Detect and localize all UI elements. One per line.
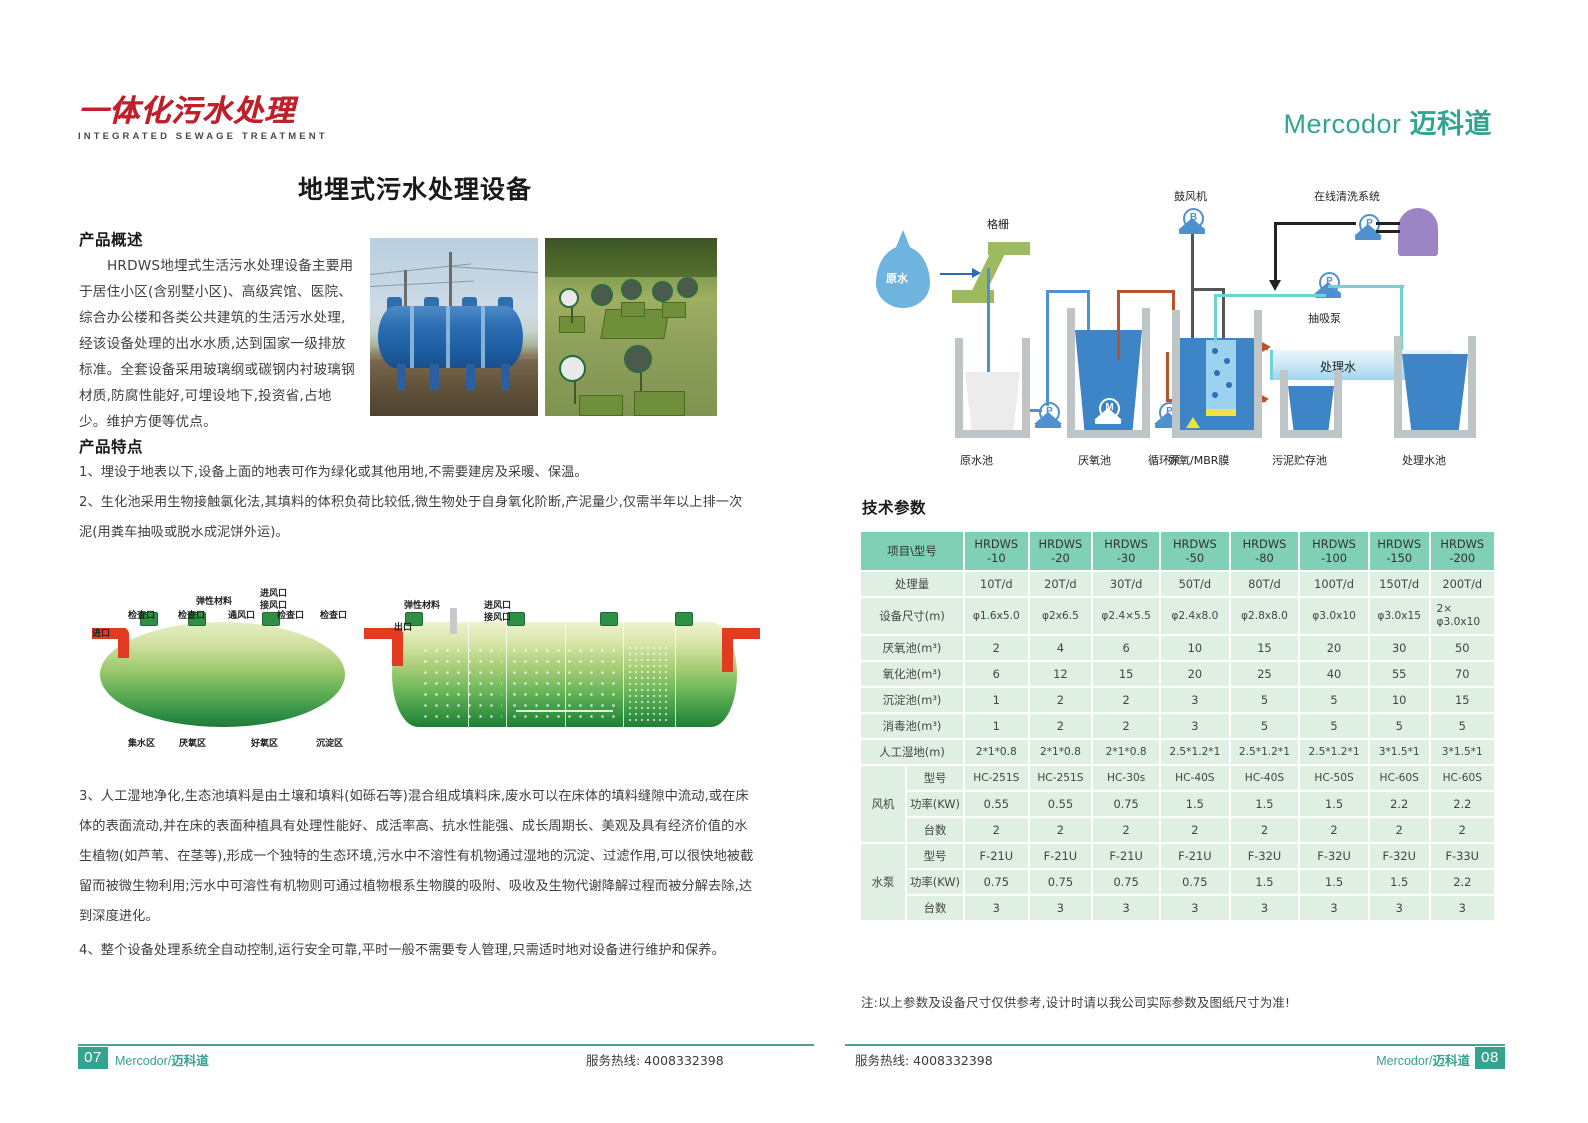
brand-english: Mercodor [1283, 109, 1401, 139]
blower-air-branch [1191, 288, 1225, 291]
spec-cell: 15 [1093, 662, 1159, 686]
spec-cell: 2.2 [1431, 870, 1494, 894]
spec-cell: HC-251S [1030, 766, 1092, 790]
tank-exterior-illustration [100, 622, 345, 727]
footer-brand-en-left: Mercodor [115, 1054, 168, 1068]
spec-cell: 100T/d [1300, 572, 1368, 596]
spec-table: 项目\型号 HRDWS -10 HRDWS -20 HRDWS -30 HRDW… [859, 530, 1496, 922]
spec-cell: 0.75 [1030, 870, 1092, 894]
logo-chinese-text: 一体化污水处理 [78, 96, 338, 128]
footer-hotline-right: 服务热线: 4008332398 [855, 1050, 993, 1069]
spec-cell: 2.5*1.2*1 [1231, 740, 1299, 764]
label-zone-anaerobic: 厌氧区 [179, 736, 206, 749]
spec-cell: 10T/d [965, 572, 1028, 596]
spec-cell: 50T/d [1161, 572, 1229, 596]
spec-cell: HC-40S [1231, 766, 1299, 790]
brand-chinese: 迈科道 [1410, 109, 1493, 140]
spec-cell: φ3.0x10 [1300, 598, 1368, 634]
spec-cell: HC-30s [1093, 766, 1159, 790]
spec-cell: F-21U [965, 844, 1028, 868]
label-air-out-top: 接风口 [484, 610, 511, 623]
spec-cell: 20 [1300, 636, 1368, 660]
label-inspection-1: 检查口 [128, 608, 155, 621]
label-anaerobic-tank: 厌氧池 [1078, 452, 1111, 468]
tank-neck-icon [600, 612, 618, 626]
spec-subrow-label: 台数 [907, 896, 963, 920]
tank-section-inlet-bend [392, 628, 403, 666]
overview-paragraph: HRDWS地埋式生活污水处理设备主要用于居住小区(含别墅小区)、高级宾馆、医院、… [79, 253, 357, 435]
tank-section-illustration [392, 622, 737, 727]
vent-stack-icon [450, 608, 457, 634]
spec-cell: HC-251S [965, 766, 1028, 790]
spec-cell: 3 [965, 896, 1028, 920]
footer-brand-left: Mercodor/迈科道 [115, 1050, 209, 1069]
recirc-pipe-4 [1166, 352, 1169, 402]
spec-cell: F-32U [1300, 844, 1368, 868]
spec-cell: 3 [1093, 896, 1159, 920]
spec-row-label-4: 沉淀池(m³) [861, 688, 963, 712]
spec-cell: 3*1.5*1 [1370, 740, 1429, 764]
label-online-clean: 在线清洗系统 [1314, 188, 1380, 204]
tank-neck-icon [675, 612, 693, 626]
spec-cell: 70 [1431, 662, 1494, 686]
overview-heading: 产品概述 [79, 228, 143, 250]
spec-cell: 2 [1030, 714, 1092, 738]
blower-icon: B [1178, 208, 1206, 234]
spec-cell: φ3.0x15 [1370, 598, 1429, 634]
grid-icon-upper [988, 242, 1030, 255]
logo-english-text: INTEGRATED SEWAGE TREATMENT [78, 131, 338, 142]
spec-cell: 2 [1093, 818, 1159, 842]
spec-cell: 3 [1370, 896, 1429, 920]
clean-pipe-2 [1376, 230, 1400, 233]
footer-brand-cn-left: 迈科道 [171, 1053, 209, 1068]
footer-brand-right: Mercodor/迈科道 [1376, 1050, 1470, 1069]
table-row: 处理量 10T/d 20T/d 30T/d 50T/d 80T/d 100T/d… [861, 572, 1494, 596]
spec-cell: F-21U [1161, 844, 1229, 868]
spec-row-label-3: 氧化池(m³) [861, 662, 963, 686]
clean-pipe-1 [1376, 222, 1400, 225]
spec-cell: 50 [1431, 636, 1494, 660]
features-list-top: 1、埋设于地表以下,设备上面的地表可作为绿化或其他用地,不需要建房及采暖、保温。… [79, 458, 751, 548]
table-row: 设备尺寸(m) φ1.6x5.0 φ2x6.5 φ2.4×5.5 φ2.4x8.… [861, 598, 1494, 634]
aerobic-mbr-tank [1172, 310, 1262, 438]
features-heading: 产品特点 [79, 435, 143, 457]
spec-cell: 2 [1231, 818, 1299, 842]
label-raw-water-tank: 原水池 [960, 452, 993, 468]
spec-cell: HC-50S [1300, 766, 1368, 790]
spec-cell: 2 [1093, 714, 1159, 738]
spec-cell: 3 [1161, 714, 1229, 738]
table-row: 功率(KW) 0.75 0.75 0.75 0.75 1.5 1.5 1.5 2… [861, 870, 1494, 894]
cleaning-pump-icon: P [1354, 214, 1382, 240]
pipe-pump1-top [1046, 290, 1090, 293]
table-row: 台数 3 3 3 3 3 3 3 3 [861, 896, 1494, 920]
spec-row-label-0: 处理量 [861, 572, 963, 596]
table-row: 功率(KW) 0.55 0.55 0.75 1.5 1.5 1.5 2.2 2.… [861, 792, 1494, 816]
feature-item-4: 4、整个设备处理系统全自动控制,运行安全可靠,平时一般不需要专人管理,只需适时地… [79, 936, 759, 966]
clean-pipe-arrow [1269, 280, 1281, 291]
label-suction-pump: 抽吸泵 [1308, 310, 1341, 326]
permeate-line-down [1214, 294, 1217, 342]
spec-cell: φ2x6.5 [1030, 598, 1092, 634]
tank-section-outlet-bend [722, 628, 733, 672]
spec-model-header-6: HRDWS -150 [1370, 532, 1429, 570]
spec-cell: φ2.4x8.0 [1161, 598, 1229, 634]
permeate-line-1 [1214, 294, 1326, 297]
spec-cell: 1.5 [1161, 792, 1229, 816]
spec-cell: 2 [1093, 688, 1159, 712]
label-sludge-tank: 污泥贮存池 [1272, 452, 1327, 468]
spec-cell: HC-60S [1431, 766, 1494, 790]
spec-cell: F-32U [1231, 844, 1299, 868]
spec-cell: F-21U [1030, 844, 1092, 868]
product-logo: 一体化污水处理 INTEGRATED SEWAGE TREATMENT [78, 96, 338, 142]
spec-cell: φ2.8x8.0 [1231, 598, 1299, 634]
feature-item-1: 1、埋设于地表以下,设备上面的地表可作为绿化或其他用地,不需要建房及采暖、保温。 [79, 458, 751, 488]
spec-cell: 4 [1030, 636, 1092, 660]
spec-cell: 1 [965, 714, 1028, 738]
label-inspection-2: 检查口 [178, 608, 205, 621]
spec-cell: 12 [1030, 662, 1092, 686]
spec-cell: 3 [1300, 896, 1368, 920]
spec-cell: 30T/d [1093, 572, 1159, 596]
spec-cell: 1.5 [1300, 792, 1368, 816]
spec-row-label-6: 人工湿地(m) [861, 740, 963, 764]
spec-cell: 5 [1300, 688, 1368, 712]
label-elastic-material-top: 弹性材料 [404, 598, 440, 611]
spec-cell: 3 [1231, 896, 1299, 920]
pipe-pump1-riser [1046, 290, 1049, 406]
table-row: 氧化池(m³) 6 12 15 20 25 40 55 70 [861, 662, 1494, 686]
table-row: 厌氧池(m³) 2 4 6 10 15 20 30 50 [861, 636, 1494, 660]
spec-row-label-1: 设备尺寸(m) [861, 598, 963, 634]
spec-cell: 0.55 [1030, 792, 1092, 816]
permeate-line-2 [1328, 285, 1404, 288]
spec-cell: 2 [1370, 818, 1429, 842]
label-inspection-3: 检查口 [277, 608, 304, 621]
spec-cell: 0.75 [1093, 792, 1159, 816]
spec-cell: 2*1*0.8 [1030, 740, 1092, 764]
tank-inlet-pipe-bend [118, 628, 129, 658]
spec-cell: 2 [965, 818, 1028, 842]
spec-table-header-row: 项目\型号 HRDWS -10 HRDWS -20 HRDWS -30 HRDW… [861, 532, 1494, 570]
spec-cell: 6 [965, 662, 1028, 686]
spec-cell: 2.2 [1370, 792, 1429, 816]
spec-cell: 15 [1431, 688, 1494, 712]
photo-installed-site [545, 238, 717, 416]
spec-cell: 5 [1231, 714, 1299, 738]
spec-model-header-3: HRDWS -50 [1161, 532, 1229, 570]
features-list-bottom: 3、人工湿地净化,生态池填料是由土壤和填料(如砾石等)混合组成填料床,废水可以在… [79, 782, 759, 970]
label-zone-aerobic: 好氧区 [251, 736, 278, 749]
spec-cell: 80T/d [1231, 572, 1299, 596]
spec-cell: 25 [1231, 662, 1299, 686]
table-row: 消毒池(m³) 1 2 2 3 5 5 5 5 [861, 714, 1494, 738]
spec-cell: 2 [1431, 818, 1494, 842]
spec-cell: 10 [1370, 688, 1429, 712]
spec-cell: 0.75 [1161, 870, 1229, 894]
spec-cell: 2 [1300, 818, 1368, 842]
spec-cell: 6 [1093, 636, 1159, 660]
spec-cell: 1.5 [1370, 870, 1429, 894]
spec-cell: F-21U [1093, 844, 1159, 868]
page-number-left: 07 [78, 1047, 108, 1069]
label-zone-collection: 集水区 [128, 736, 155, 749]
spec-group-pump: 水泵 [861, 844, 905, 920]
spec-cell: 3 [1030, 896, 1092, 920]
spec-cell: 20T/d [1030, 572, 1092, 596]
spec-cell: φ1.6x5.0 [965, 598, 1028, 634]
spec-cell: φ2.4×5.5 [1093, 598, 1159, 634]
spec-cell: 2× φ3.0x10 [1431, 598, 1494, 634]
spec-model-header-0: HRDWS -10 [965, 532, 1028, 570]
spec-heading: 技术参数 [862, 496, 926, 518]
table-row: 台数 2 2 2 2 2 2 2 2 [861, 818, 1494, 842]
spec-model-header-1: HRDWS -20 [1030, 532, 1092, 570]
spec-cell: 3 [1161, 688, 1229, 712]
label-grid: 格栅 [987, 216, 1009, 232]
spec-cell: 2.5*1.2*1 [1161, 740, 1229, 764]
spec-cell: 150T/d [1370, 572, 1429, 596]
photo-blue-tank [370, 238, 538, 416]
spec-cell: 5 [1231, 688, 1299, 712]
spec-cell: 3*1.5*1 [1431, 740, 1494, 764]
label-elastic-material: 弹性材料 [196, 594, 232, 607]
spec-row-label-2: 厌氧池(m³) [861, 636, 963, 660]
label-outlet: 出口 [394, 620, 412, 633]
table-row: 水泵 型号 F-21U F-21U F-21U F-21U F-32U F-32… [861, 844, 1494, 868]
spec-cell: 3 [1431, 896, 1494, 920]
spec-model-header-5: HRDWS -100 [1300, 532, 1368, 570]
label-zone-sedimentation: 沉淀区 [316, 736, 343, 749]
spec-cell: 3 [1161, 896, 1229, 920]
spec-cell: 5 [1431, 714, 1494, 738]
page-title: 地埋式污水处理设备 [298, 170, 532, 206]
spec-group-fan: 风机 [861, 766, 905, 842]
label-treated-water-tank: 处理水池 [1402, 452, 1446, 468]
spec-cell: 1.5 [1300, 870, 1368, 894]
label-inlet: 进口 [92, 626, 110, 639]
flow-arrow-1 [940, 273, 974, 275]
table-row: 沉淀池(m³) 1 2 2 3 5 5 10 15 [861, 688, 1494, 712]
feature-item-3: 3、人工湿地净化,生态池填料是由土壤和填料(如砾石等)混合组成填料床,废水可以在… [79, 782, 759, 932]
spec-note: 注:以上参数及设备尺寸仅供参考,设计时请以我公司实际参数及图纸尺寸为准! [861, 993, 1290, 1011]
spec-cell: 1.5 [1231, 792, 1299, 816]
raw-water-tank [955, 338, 1030, 438]
spec-cell: 5 [1300, 714, 1368, 738]
recirc-pipe-top [1117, 290, 1175, 293]
feature-item-2: 2、生化池采用生物接触氯化法,其填料的体积负荷比较低,微生物处于自身氧化阶断,产… [79, 488, 751, 548]
spec-cell: 1 [965, 688, 1028, 712]
company-brand: Mercodor迈科道 [1283, 102, 1492, 141]
treated-water-tank [1394, 336, 1476, 438]
footer-rule-left [78, 1044, 814, 1046]
page-number-right: 08 [1475, 1047, 1505, 1069]
spec-model-header-7: HRDWS -200 [1431, 532, 1494, 570]
spec-cell: 20 [1161, 662, 1229, 686]
label-raw-water: 原水 [886, 270, 908, 286]
table-row: 人工湿地(m) 2*1*0.8 2*1*0.8 2*1*0.8 2.5*1.2*… [861, 740, 1494, 764]
spec-cell: 10 [1161, 636, 1229, 660]
spec-cell: 2.5*1.2*1 [1300, 740, 1368, 764]
spec-subrow-label: 功率(KW) [907, 870, 963, 894]
spec-cell: F-32U [1370, 844, 1429, 868]
spec-cell: 5 [1370, 714, 1429, 738]
spec-model-header-4: HRDWS -80 [1231, 532, 1299, 570]
spec-cell: 2.2 [1431, 792, 1494, 816]
pipe-tank-to-pump1 [1030, 409, 1042, 412]
label-vent: 通风口 [228, 608, 255, 621]
spec-subrow-label: 功率(KW) [907, 792, 963, 816]
spec-cell: 0.55 [965, 792, 1028, 816]
spec-cell: 0.75 [1093, 870, 1159, 894]
label-aerobic-mbr: 好氧/MBR膜 [1168, 452, 1229, 468]
spec-cell: 40 [1300, 662, 1368, 686]
spec-subrow-label: 型号 [907, 766, 963, 790]
label-blower: 鼓风机 [1174, 188, 1207, 204]
table-row: 风机 型号 HC-251S HC-251S HC-30s HC-40S HC-4… [861, 766, 1494, 790]
spec-cell: 2*1*0.8 [965, 740, 1028, 764]
spec-cell: 15 [1231, 636, 1299, 660]
spec-subrow-label: 台数 [907, 818, 963, 842]
brochure-page: 一体化污水处理 INTEGRATED SEWAGE TREATMENT Merc… [0, 0, 1588, 1123]
cleaning-tank-icon [1398, 208, 1438, 256]
clean-pipe-down [1274, 222, 1277, 284]
anaerobic-mixer-icon: M [1094, 398, 1122, 424]
label-inspection-4: 检查口 [320, 608, 347, 621]
footer-brand-en-right: Mercodor [1376, 1054, 1429, 1068]
clean-pipe-3 [1274, 222, 1356, 225]
spec-corner-header: 项目\型号 [861, 532, 963, 570]
spec-cell: 2 [1030, 688, 1092, 712]
spec-cell: 200T/d [1431, 572, 1494, 596]
spec-cell: 2*1*0.8 [1093, 740, 1159, 764]
spec-cell: 0.75 [965, 870, 1028, 894]
spec-cell: 2 [965, 636, 1028, 660]
spec-cell: F-33U [1431, 844, 1494, 868]
spec-cell: 1.5 [1231, 870, 1299, 894]
spec-cell: HC-40S [1161, 766, 1229, 790]
sludge-storage-tank [1280, 370, 1342, 438]
spec-cell: 55 [1370, 662, 1429, 686]
footer-hotline-left: 服务热线: 4008332398 [586, 1050, 724, 1069]
spec-cell: HC-60S [1370, 766, 1429, 790]
footer-rule-right [845, 1044, 1505, 1046]
spec-cell: 30 [1370, 636, 1429, 660]
process-flow-diagram: 原水 格栅 原水池 P M [862, 190, 1502, 480]
footer-brand-cn-right: 迈科道 [1432, 1053, 1470, 1068]
tank-cutaway-diagram: 进口 检查口 检查口 弹性材料 通风口 进风口 接风口 检查口 检查口 出口 集… [92, 590, 762, 750]
spec-cell: 2 [1030, 818, 1092, 842]
spec-cell: 2 [1161, 818, 1229, 842]
recirc-pipe-1 [1117, 290, 1120, 360]
spec-subrow-label: 型号 [907, 844, 963, 868]
spec-row-label-5: 消毒池(m³) [861, 714, 963, 738]
spec-model-header-2: HRDWS -30 [1093, 532, 1159, 570]
